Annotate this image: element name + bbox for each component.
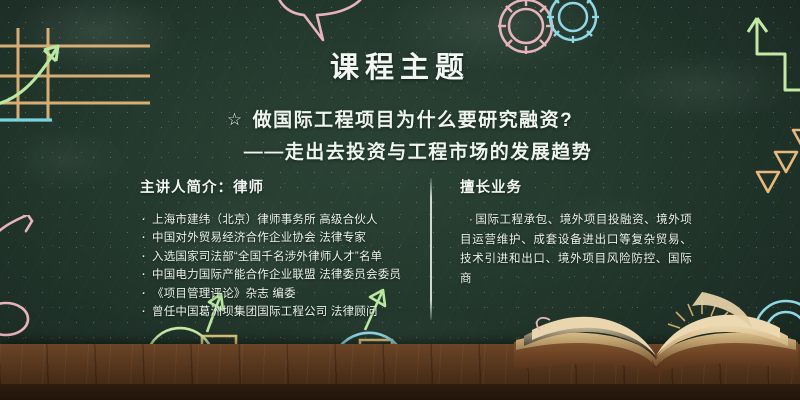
list-item: 《项目管理评论》杂志 编委 <box>140 285 420 303</box>
page-title: 课程主题 <box>0 44 800 86</box>
slide-content: 课程主题 ☆做国际工程项目为什么要研究融资? ——走出去投资与工程市场的发展趋势… <box>0 0 800 400</box>
list-item: 中国对外贸易经济合作企业协会 法律专家 <box>140 229 420 247</box>
list-item: 曾任中国葛洲坝集团国际工程公司 法律顾问 <box>140 303 420 321</box>
speaker-column: 主讲人简介：律师 上海市建纬（北京）律师事务所 高级合伙人 中国对外贸易经济合作… <box>140 176 420 321</box>
star-icon: ☆ <box>227 110 244 130</box>
skills-heading: 擅长业务 <box>460 176 692 197</box>
list-item: 中国电力国际产能合作企业联盟 法律委员会委员 <box>140 266 420 284</box>
slide-canvas: 课程主题 ☆做国际工程项目为什么要研究融资? ——走出去投资与工程市场的发展趋势… <box>0 0 800 400</box>
speaker-credentials-list: 上海市建纬（北京）律师事务所 高级合伙人 中国对外贸易经济合作企业协会 法律专家… <box>140 211 420 321</box>
subtitle-line-1-text: 做国际工程项目为什么要研究融资? <box>253 110 574 131</box>
column-divider <box>430 178 432 320</box>
subtitle-line-2: ——走出去投资与工程市场的发展趋势 <box>0 137 800 164</box>
subtitle-line-1: ☆做国际工程项目为什么要研究融资? <box>0 105 800 132</box>
skills-column: 擅长业务 国际工程承包、境外项目投融资、境外项目运营维护、成套设备进出口等复杂贸… <box>460 176 692 289</box>
list-item: 入选国家司法部“全国千名涉外律师人才”名单 <box>140 248 420 266</box>
skills-body: 国际工程承包、境外项目投融资、境外项目运营维护、成套设备进出口等复杂贸易、技术引… <box>460 211 692 289</box>
list-item: 上海市建纬（北京）律师事务所 高级合伙人 <box>140 211 420 229</box>
speaker-heading: 主讲人简介：律师 <box>140 176 420 197</box>
